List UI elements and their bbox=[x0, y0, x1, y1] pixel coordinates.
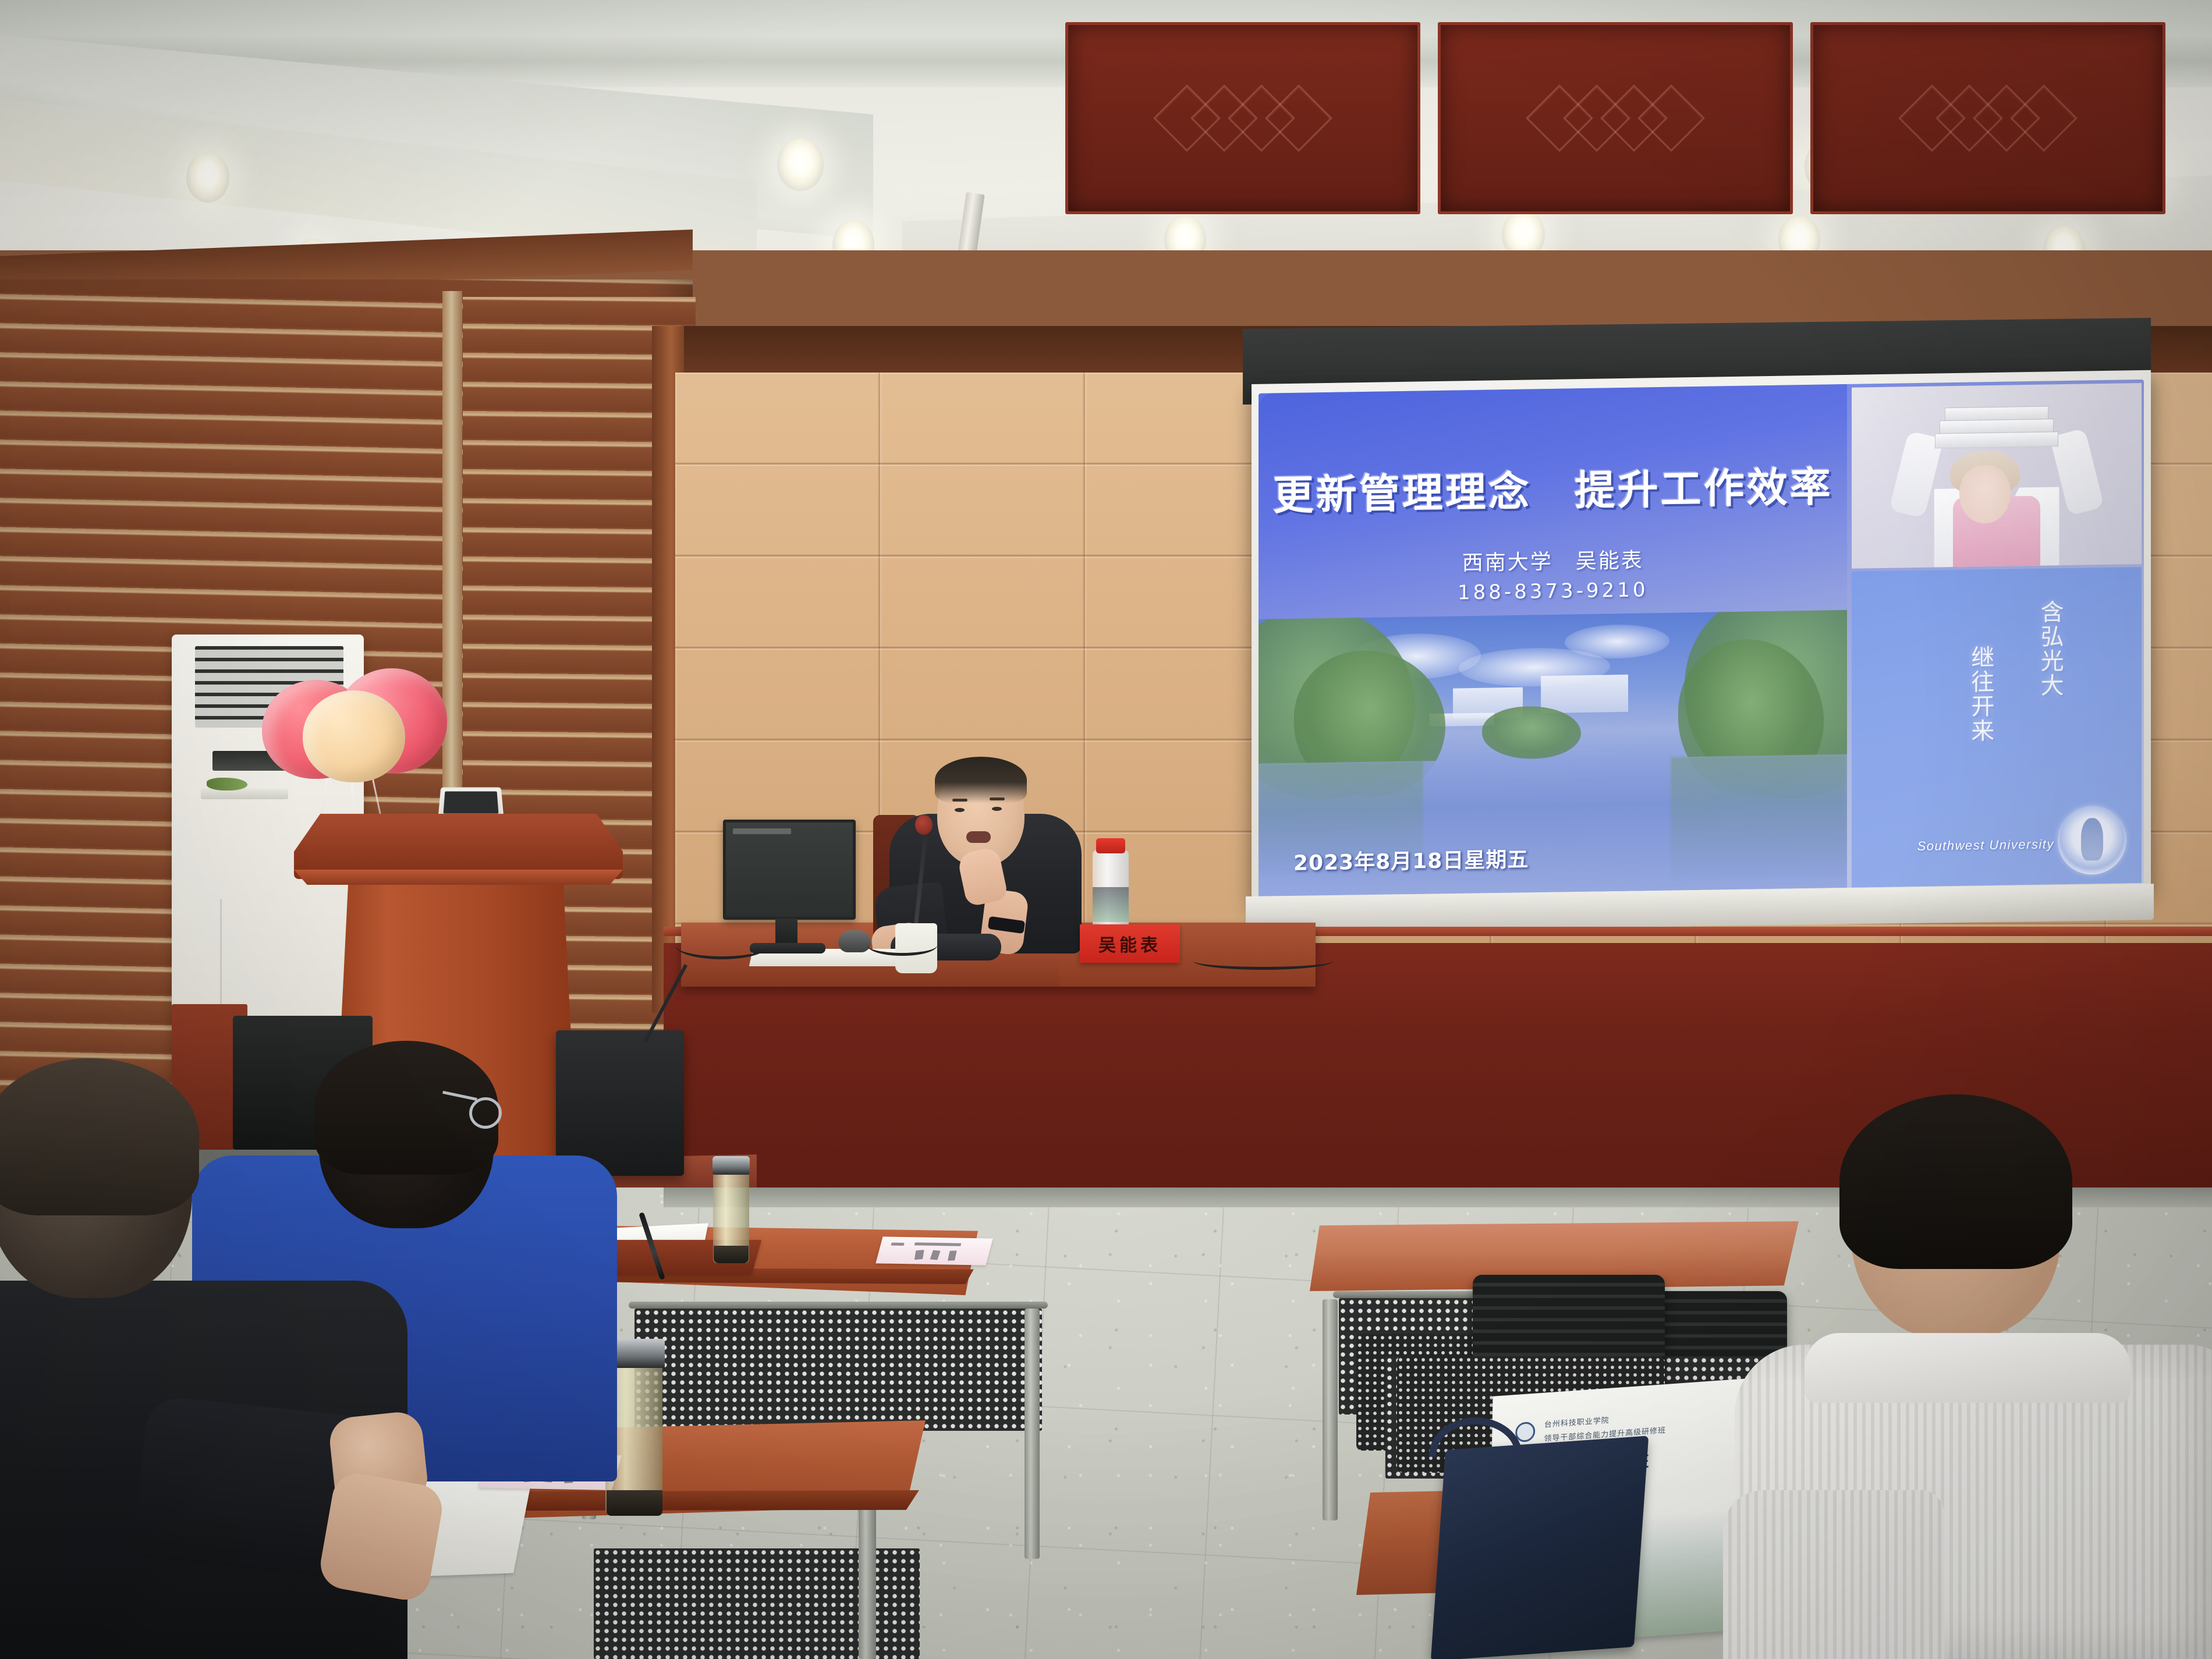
slide-speaker-affiliation: 西南大学 吴能表 bbox=[1259, 540, 1847, 580]
diamond-pattern bbox=[1168, 94, 1317, 142]
attendee-front-left-forearm bbox=[317, 1470, 446, 1604]
presentation-slide: 更新管理理念 提升工作效率 西南大学 吴能表 188-8373-9210 bbox=[1259, 380, 2144, 897]
place-name-card bbox=[875, 1236, 992, 1265]
university-motto-panel: 含弘光大 继往开来 Southwest University bbox=[1852, 567, 2142, 888]
small-plant-decoration bbox=[207, 778, 247, 790]
table-leg bbox=[1323, 1299, 1338, 1520]
water-bottle-label bbox=[1093, 887, 1129, 922]
water-bottle-cap bbox=[1096, 838, 1125, 853]
attendee-front-right-hair bbox=[1839, 1094, 2072, 1269]
table-rail bbox=[629, 1302, 1048, 1309]
motto-column-1: 含弘光大 bbox=[2033, 600, 2066, 698]
speaker-nameplate-text: 吴能表 bbox=[1098, 931, 1161, 956]
campus-lake-photo: 2023年8月18日星期五 bbox=[1259, 610, 1847, 897]
cable bbox=[675, 931, 768, 959]
table-modesty-panel bbox=[634, 1309, 1042, 1431]
monitor-stand bbox=[775, 919, 797, 945]
lectern-top-surface bbox=[294, 814, 623, 879]
table-leg bbox=[1025, 1309, 1040, 1559]
speaker-eye bbox=[992, 807, 1002, 811]
university-name-en: Southwest University bbox=[1917, 836, 2054, 854]
thermos-base bbox=[607, 1490, 662, 1516]
motto-column-2: 继往开来 bbox=[1963, 645, 1997, 743]
microphone-icon bbox=[915, 815, 933, 835]
speaker-eyebrow bbox=[990, 797, 1005, 800]
shelf-tray bbox=[201, 789, 288, 799]
diamond-pattern bbox=[1913, 94, 2062, 142]
cable bbox=[867, 935, 937, 956]
lectern-top-edge bbox=[294, 870, 623, 885]
cable bbox=[1193, 952, 1333, 970]
stacked-books-icon bbox=[1935, 431, 2058, 448]
speaker-nameplate: 吴能表 bbox=[1080, 924, 1180, 963]
attendee-front-right-arm bbox=[1723, 1490, 1944, 1659]
conference-room-photo: 更新管理理念 提升工作效率 西南大学 吴能表 188-8373-9210 bbox=[0, 0, 2212, 1659]
thermos-base bbox=[714, 1246, 749, 1263]
desktop-monitor[interactable] bbox=[723, 820, 856, 920]
thermos-cap bbox=[712, 1156, 750, 1175]
diamond-pattern bbox=[1541, 94, 1690, 142]
slide-side-panel: 含弘光大 继往开来 Southwest University bbox=[1847, 380, 2144, 888]
speaker-eyebrow bbox=[952, 799, 967, 802]
speaker-hair bbox=[935, 757, 1027, 803]
monitor-brand-strip bbox=[733, 828, 791, 834]
diamond-icon bbox=[1637, 84, 1705, 152]
slide-phone-number: 188-8373-9210 bbox=[1259, 575, 1847, 608]
document-bag bbox=[1431, 1435, 1649, 1659]
speaker-eye bbox=[955, 808, 965, 812]
downlight-icon bbox=[186, 153, 229, 203]
downlight-icon bbox=[777, 139, 824, 191]
stage-wood-panel bbox=[1065, 22, 1420, 214]
slide-main-panel: 更新管理理念 提升工作效率 西南大学 吴能表 188-8373-9210 bbox=[1259, 384, 1847, 897]
diamond-icon bbox=[2010, 84, 2078, 152]
water-reflection bbox=[1671, 754, 1847, 880]
attendee-front-right-collar bbox=[1805, 1333, 2131, 1403]
campus-building bbox=[1541, 675, 1628, 713]
loudspeaker-box-right bbox=[556, 1030, 684, 1176]
stage-wood-panel bbox=[1810, 22, 2165, 214]
slide-date-label: 2023年8月18日星期五 bbox=[1293, 843, 1529, 877]
stage-wood-panel bbox=[1438, 22, 1793, 214]
speaker-mouth bbox=[966, 831, 991, 843]
diamond-icon bbox=[1265, 84, 1332, 152]
balloon-peach-center bbox=[303, 690, 405, 782]
slide-title: 更新管理理念 提升工作效率 bbox=[1259, 454, 1847, 522]
child-balancing-books-photo bbox=[1852, 383, 2142, 569]
projection-screen[interactable]: 更新管理理念 提升工作效率 西南大学 吴能表 188-8373-9210 bbox=[1252, 370, 2151, 905]
computer-mouse[interactable] bbox=[838, 930, 871, 952]
southwest-university-logo-icon bbox=[2058, 805, 2126, 875]
